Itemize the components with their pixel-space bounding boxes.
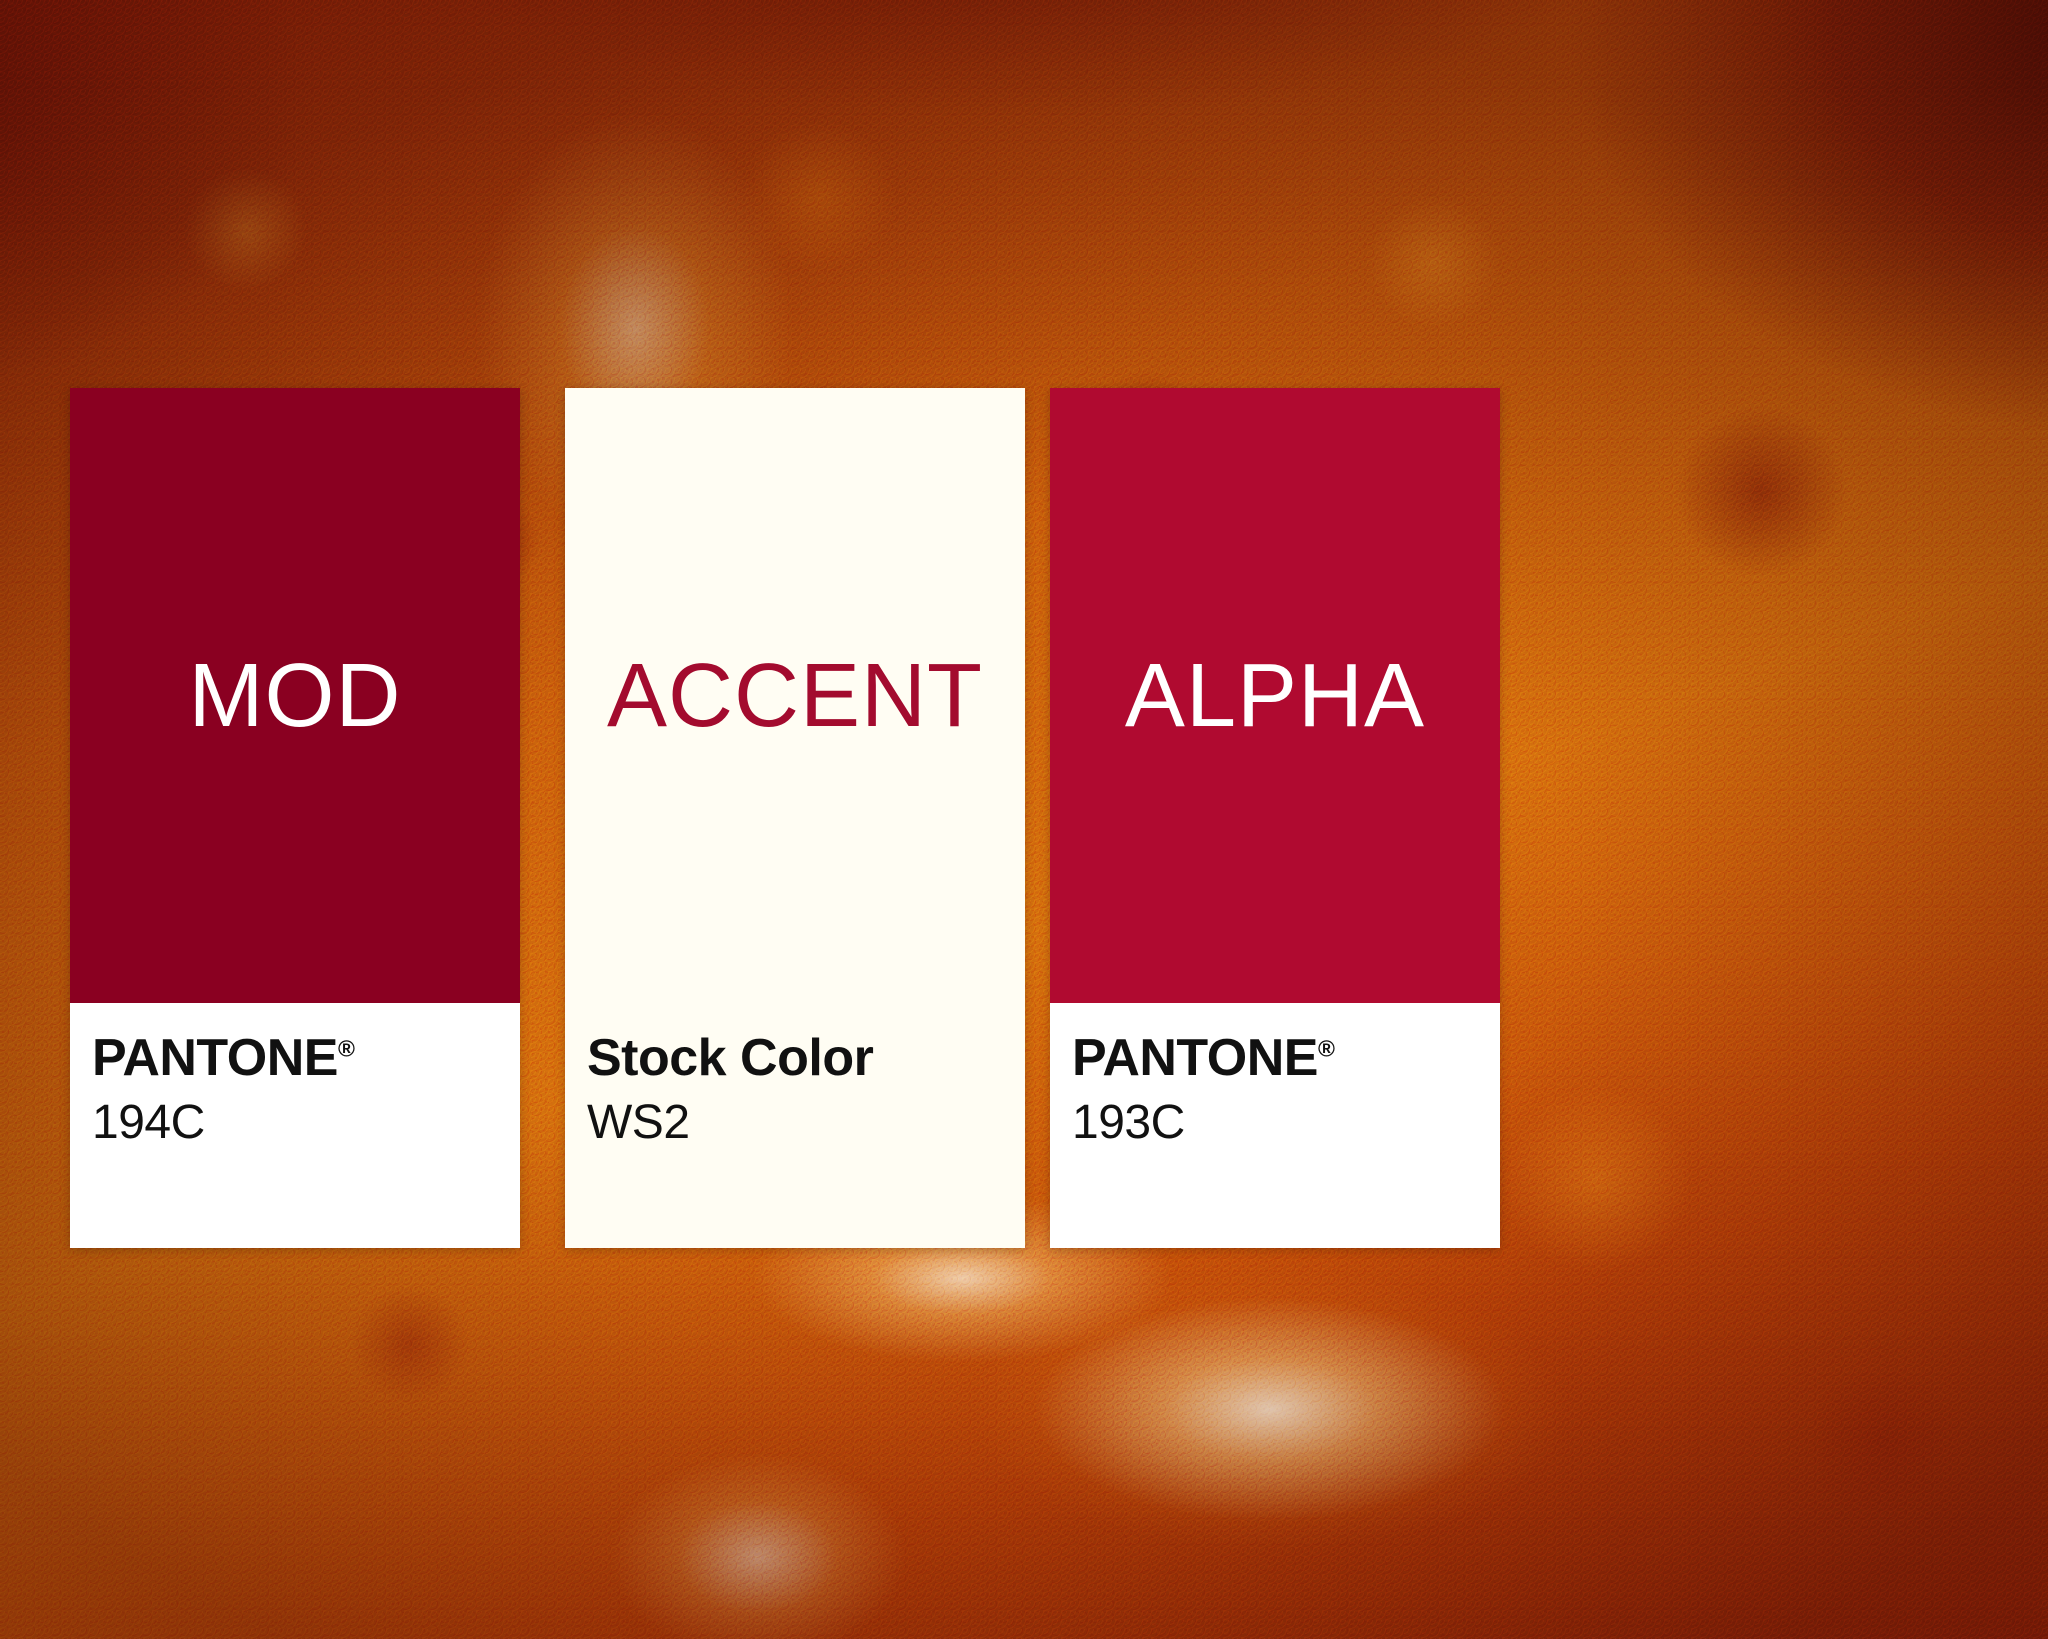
color-swatch-card-accent[interactable]: ACCENT Stock Color WS2	[565, 388, 1025, 1248]
swatch-brand-text-mod: PANTONE	[92, 1029, 338, 1087]
swatch-code-alpha: 193C	[1072, 1098, 1478, 1148]
swatch-name-accent: ACCENT	[607, 651, 983, 741]
swatch-label-accent: Stock Color WS2	[565, 1003, 1025, 1248]
swatch-brand-mod: PANTONE®	[92, 1031, 498, 1086]
swatch-label-mod: PANTONE® 194C	[70, 1003, 520, 1248]
registered-mark-icon-alpha: ®	[1318, 1036, 1334, 1062]
swatch-board: MOD PANTONE® 194C ACCENT Stock Color WS2…	[0, 0, 2048, 1639]
swatch-color-block-accent: ACCENT	[565, 388, 1025, 1003]
color-swatch-card-alpha[interactable]: ALPHA PANTONE® 193C	[1050, 388, 1500, 1248]
swatch-label-alpha: PANTONE® 193C	[1050, 1003, 1500, 1248]
swatch-brand-accent: Stock Color	[587, 1031, 1003, 1086]
swatch-name-mod: MOD	[189, 651, 402, 741]
swatch-brand-alpha: PANTONE®	[1072, 1031, 1478, 1086]
swatch-name-alpha: ALPHA	[1125, 651, 1425, 741]
swatch-color-block-alpha: ALPHA	[1050, 388, 1500, 1003]
registered-mark-icon: ®	[338, 1036, 354, 1062]
swatch-brand-text-alpha: PANTONE	[1072, 1029, 1318, 1087]
swatch-brand-text-accent: Stock Color	[587, 1029, 873, 1087]
swatch-code-mod: 194C	[92, 1098, 498, 1148]
swatch-color-block-mod: MOD	[70, 388, 520, 1003]
swatch-code-accent: WS2	[587, 1098, 1003, 1148]
color-swatch-card-mod[interactable]: MOD PANTONE® 194C	[70, 388, 520, 1248]
